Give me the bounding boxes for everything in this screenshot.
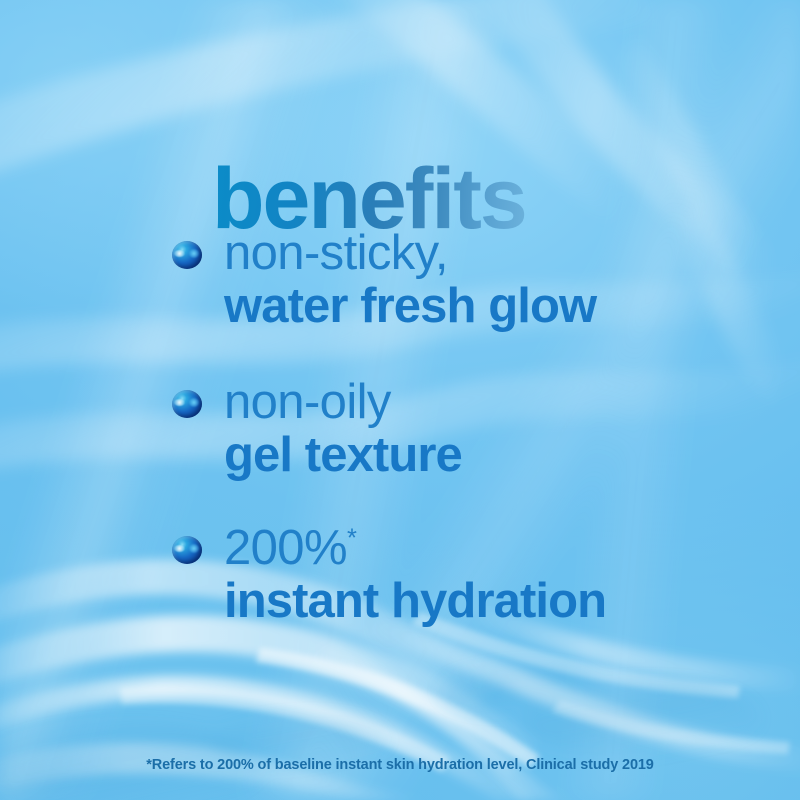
list-item: non-sticky, water fresh glow <box>172 228 792 333</box>
benefit-line-bold: instant hydration <box>224 576 792 628</box>
water-droplet-bullet-icon <box>172 390 202 418</box>
benefit-line-bold: water fresh glow <box>224 281 792 333</box>
list-item: 200%* instant hydration <box>172 523 792 628</box>
list-item: non-oily gel texture <box>172 377 792 482</box>
product-benefits-banner: benefits non-sticky, water fresh glow no… <box>0 0 800 800</box>
benefit-text-block: non-oily gel texture <box>224 377 792 482</box>
benefit-line-light: non-sticky, <box>224 228 792 279</box>
benefit-line-light-value: 200% <box>224 521 347 575</box>
water-droplet-bullet-icon <box>172 241 202 269</box>
water-droplet-bullet-icon <box>172 536 202 564</box>
benefit-text-block: non-sticky, water fresh glow <box>224 228 792 333</box>
banner-content: benefits non-sticky, water fresh glow no… <box>0 0 800 800</box>
footnote-marker: * <box>347 525 357 553</box>
benefit-text-block: 200%* instant hydration <box>224 523 792 628</box>
benefit-line-light: 200%* <box>224 523 792 574</box>
benefit-line-light: non-oily <box>224 377 792 428</box>
benefit-line-bold: gel texture <box>224 430 792 482</box>
footnote-disclaimer: *Refers to 200% of baseline instant skin… <box>0 757 800 773</box>
